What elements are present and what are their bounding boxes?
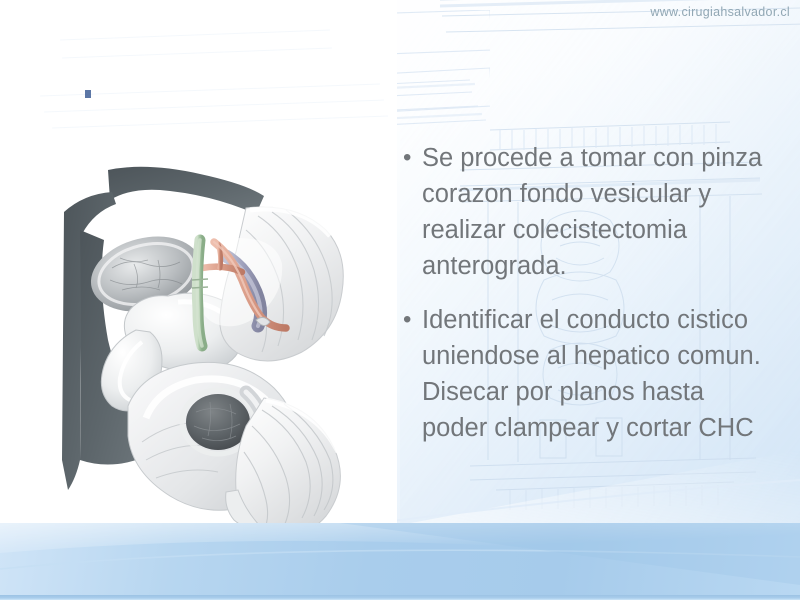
bullet-item: • Identificar el conducto cistico uniend… xyxy=(400,302,770,446)
bullet-point-icon: • xyxy=(400,140,422,176)
bullet-item: • Se procede a tomar con pinza corazon f… xyxy=(400,140,770,284)
biliary-anatomy-illustration xyxy=(50,160,350,523)
footer-band-wave xyxy=(0,523,800,600)
content-text-column: • Se procede a tomar con pinza corazon f… xyxy=(400,140,770,464)
slide-canvas: www.cirugiahsalvador.cl • Se procede a t… xyxy=(0,0,800,600)
bullet-text: Identificar el conducto cistico uniendos… xyxy=(422,302,770,446)
illustration-panel xyxy=(0,0,397,523)
footer-band-rule xyxy=(0,595,800,600)
footer-accent-band xyxy=(0,523,800,600)
bullet-text: Se procede a tomar con pinza corazon fon… xyxy=(422,140,770,284)
bullet-point-icon: • xyxy=(400,302,422,338)
square-bullet-icon xyxy=(85,90,91,98)
site-url: www.cirugiahsalvador.cl xyxy=(650,5,790,19)
